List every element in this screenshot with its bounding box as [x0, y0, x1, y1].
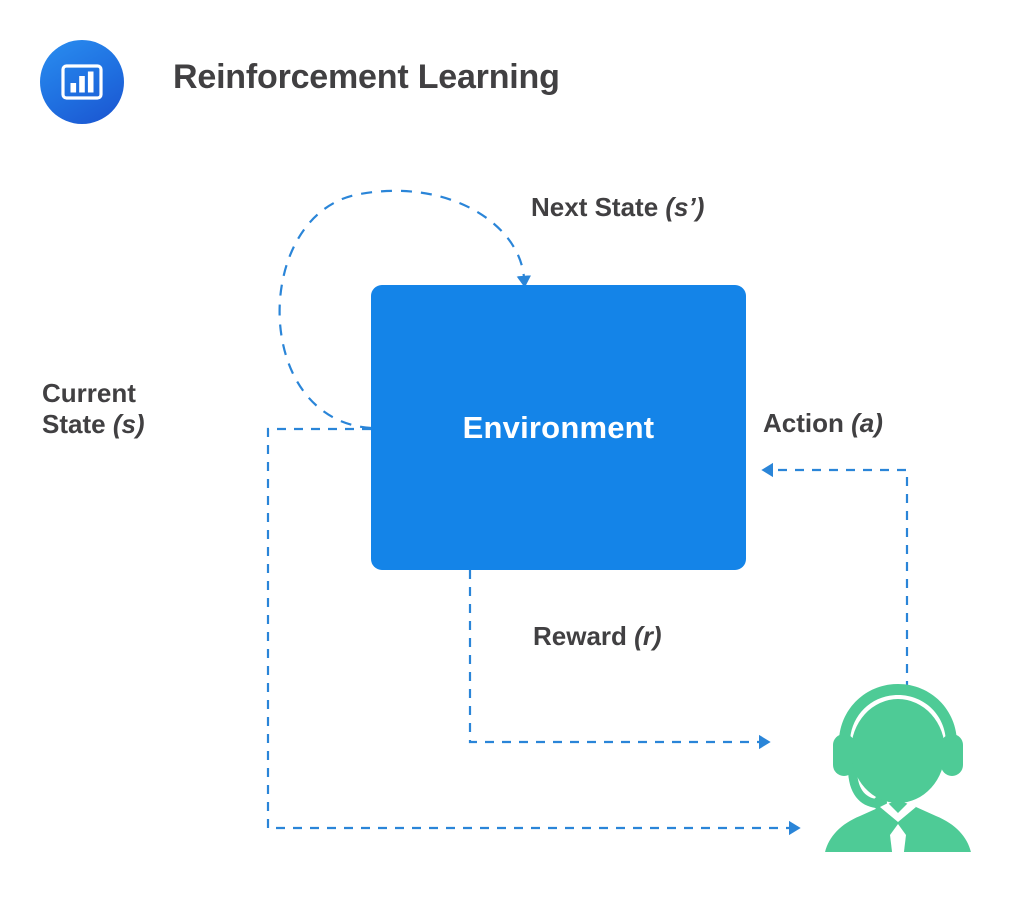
action-symbol: (a)	[851, 408, 883, 438]
edge-label-next-state: Next State (s’)	[531, 192, 704, 223]
current-state-text-line2: State	[42, 409, 106, 439]
edge-label-current-state: Current State (s)	[42, 378, 145, 439]
reward-text: Reward	[533, 621, 627, 651]
action-text: Action	[763, 408, 844, 438]
edge-label-reward: Reward (r)	[533, 621, 662, 652]
next-state-text: Next State	[531, 192, 658, 222]
next-state-symbol: (s’)	[665, 192, 704, 222]
environment-node: Environment	[371, 285, 746, 570]
edge-label-action: Action (a)	[763, 408, 883, 439]
headset-person-icon	[808, 672, 988, 852]
diagram-canvas: Reinforcement Learning Environment Next …	[0, 0, 1024, 911]
environment-label: Environment	[463, 410, 655, 446]
reward-symbol: (r)	[634, 621, 661, 651]
edge-action	[771, 470, 907, 690]
edge-reward	[470, 570, 761, 742]
current-state-symbol: (s)	[113, 409, 145, 439]
current-state-text-line1: Current	[42, 378, 145, 409]
